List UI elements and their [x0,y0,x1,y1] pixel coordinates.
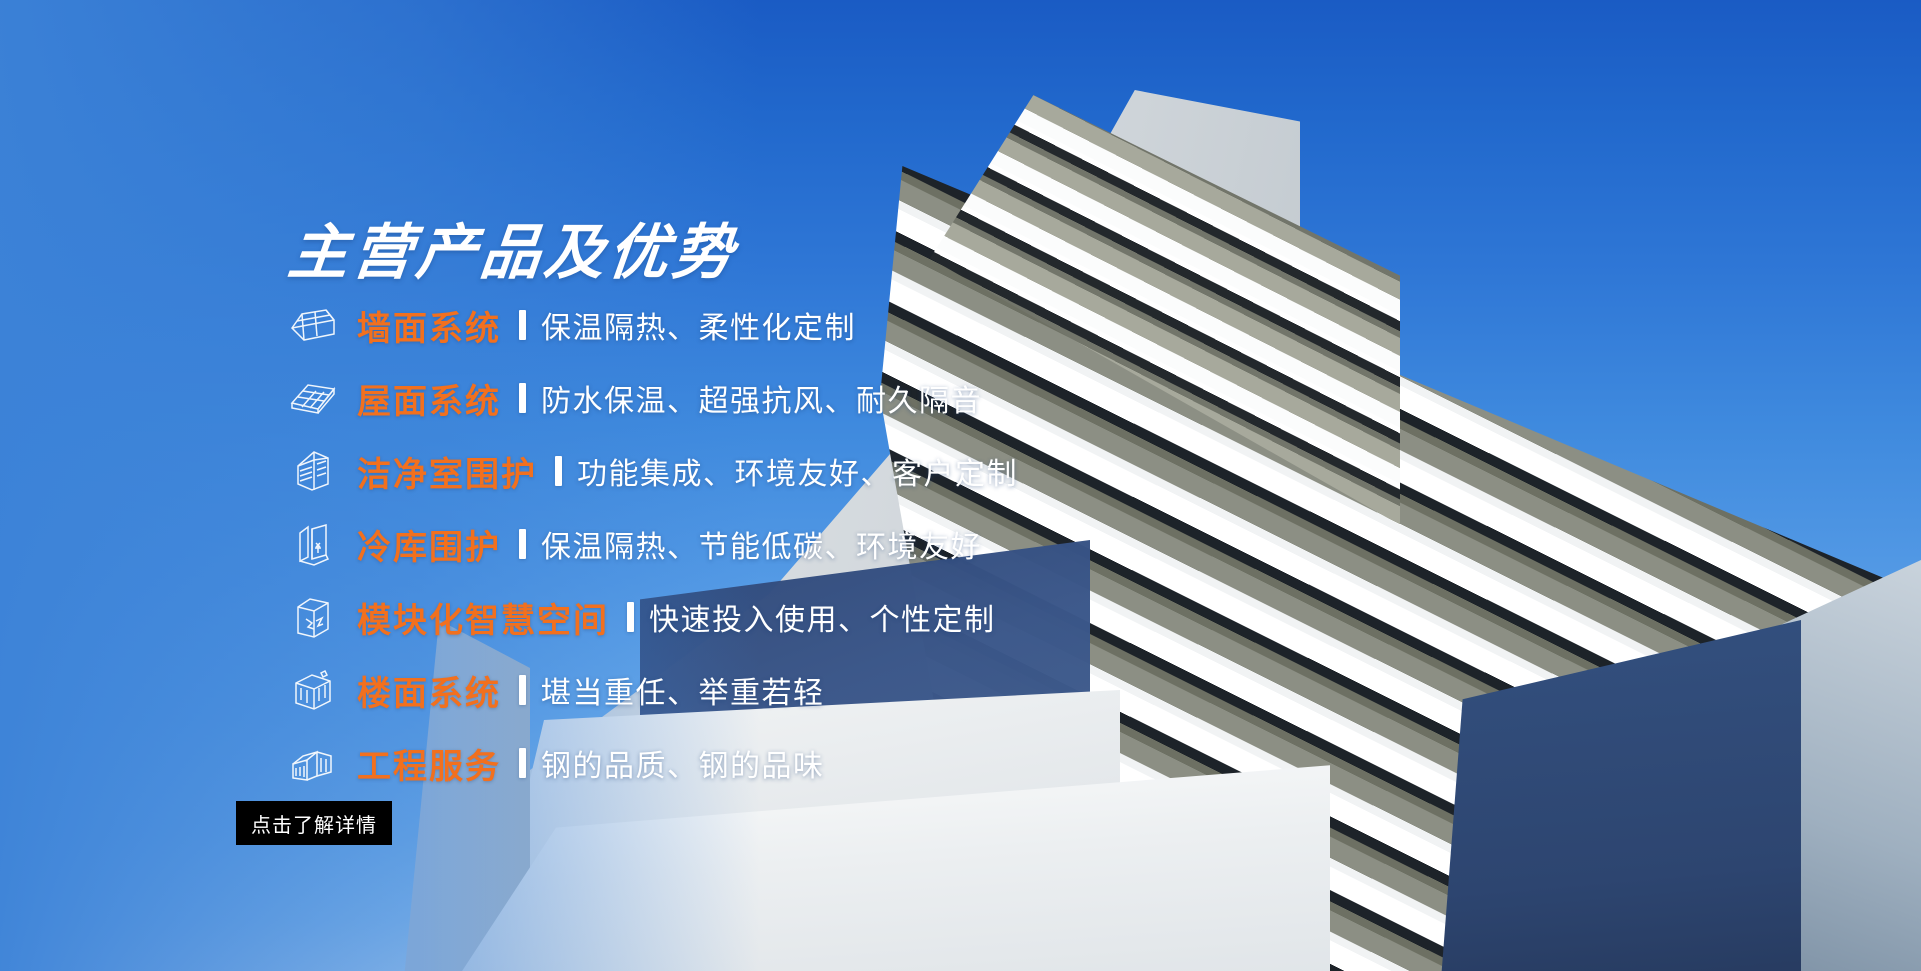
divider-bar [519,748,526,778]
product-list: 墙面系统 保温隔热、柔性化定制 屋面系统 防水保温、超强抗风、 [285,295,1115,806]
list-item[interactable]: 工程服务 钢的品质、钢的品味 [285,733,1115,793]
cold-storage-icon [285,519,341,569]
list-item[interactable]: 模块化智慧空间 快速投入使用、个性定制 [285,587,1115,647]
banner-content: 主营产品及优势 墙面系统 保温隔热、柔性化定制 [0,0,1100,971]
engineering-service-icon [285,738,341,788]
modular-cube-icon [285,592,341,642]
wall-frame-icon [285,300,341,350]
page-title: 主营产品及优势 [284,204,741,291]
divider-bar [519,383,526,413]
list-item[interactable]: 屋面系统 防水保温、超强抗风、耐久隔音 [285,368,1115,428]
product-desc: 堪当重任、举重若轻 [541,668,825,712]
list-item[interactable]: 冷库围护 保温隔热、节能低碳、环境友好 [285,514,1115,574]
promo-banner: 主营产品及优势 墙面系统 保温隔热、柔性化定制 [0,0,1921,971]
product-title: 屋面系统 [357,374,501,423]
list-item[interactable]: 楼面系统 堪当重任、举重若轻 [285,660,1115,720]
product-title: 模块化智慧空间 [357,593,609,642]
divider-bar [519,675,526,705]
floor-deck-icon [285,665,341,715]
list-item[interactable]: 洁净室围护 功能集成、环境友好、客户定制 [285,441,1115,501]
cleanroom-building-icon [285,446,341,496]
product-title: 墙面系统 [357,301,501,350]
product-desc: 快速投入使用、个性定制 [649,595,996,639]
product-desc: 功能集成、环境友好、客户定制 [577,449,1018,493]
navy-panel-right [1441,620,1801,971]
divider-bar [519,529,526,559]
product-desc: 防水保温、超强抗风、耐久隔音 [541,376,982,420]
divider-bar [555,456,562,486]
roof-panel-icon [285,373,341,423]
product-title: 冷库围护 [357,520,501,569]
divider-bar [519,310,526,340]
product-desc: 钢的品质、钢的品味 [541,741,825,785]
product-desc: 保温隔热、柔性化定制 [541,303,856,347]
product-title: 楼面系统 [357,666,501,715]
learn-more-button[interactable]: 点击了解详情 [236,801,392,845]
divider-bar [627,602,634,632]
right-edge-facade [1721,560,1921,971]
list-item[interactable]: 墙面系统 保温隔热、柔性化定制 [285,295,1115,355]
product-title: 工程服务 [357,739,501,788]
product-title: 洁净室围护 [357,447,537,496]
product-desc: 保温隔热、节能低碳、环境友好 [541,522,982,566]
